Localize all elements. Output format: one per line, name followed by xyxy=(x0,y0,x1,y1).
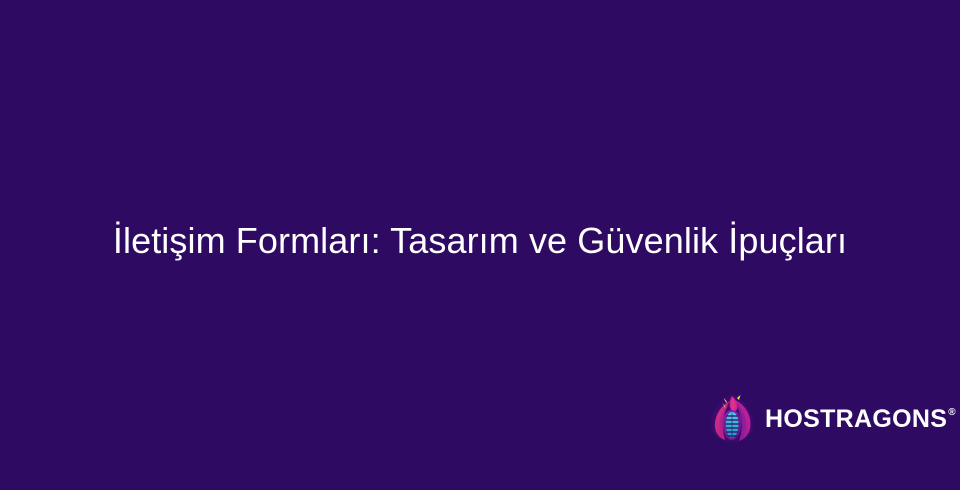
brand-logo-lockup: HOSTRAGONS ® xyxy=(710,392,956,444)
registered-trademark-symbol: ® xyxy=(948,408,955,418)
title-block: İletişim Formları: Tasarım ve Güvenlik İ… xyxy=(0,218,960,264)
hostragons-dragon-icon xyxy=(710,393,754,443)
page-title: İletişim Formları: Tasarım ve Güvenlik İ… xyxy=(113,218,847,264)
banner: İletişim Formları: Tasarım ve Güvenlik İ… xyxy=(0,0,960,490)
brand-wordmark: HOSTRAGONS xyxy=(765,407,947,432)
wordmark-wrap: HOSTRAGONS ® xyxy=(765,393,956,443)
